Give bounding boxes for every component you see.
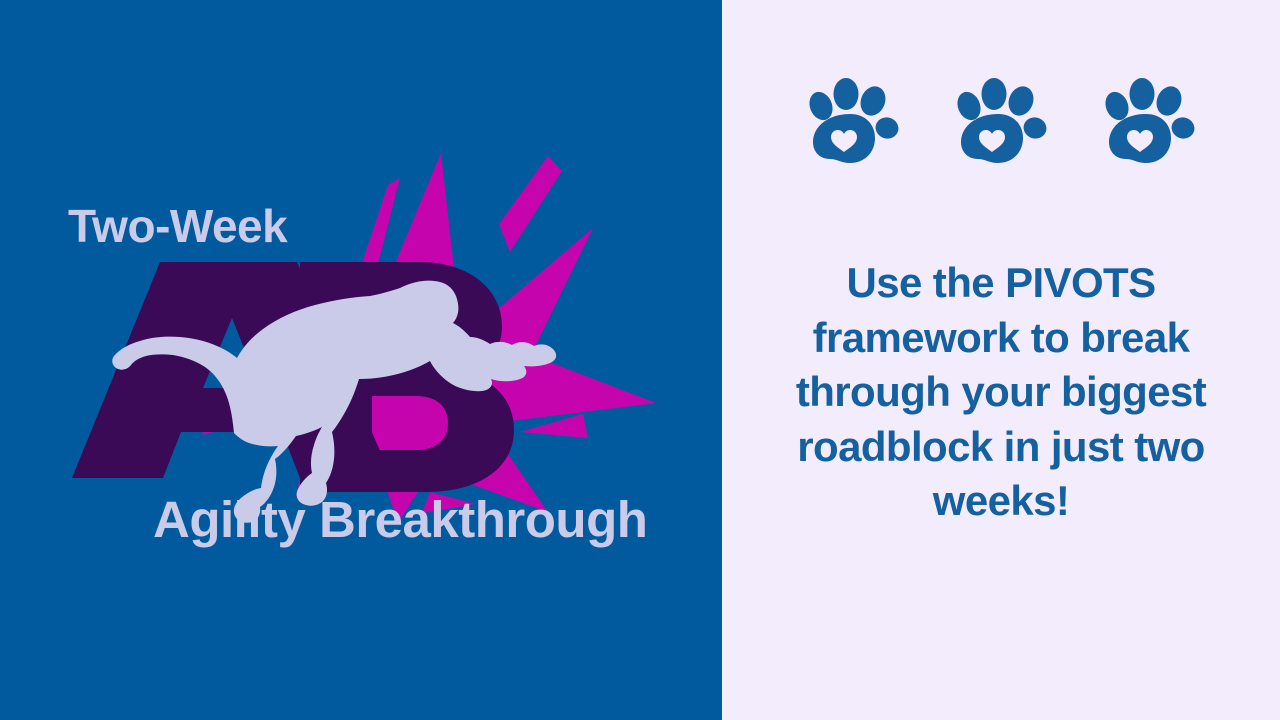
slide-canvas: Two-Week Agility Breakthrough	[0, 0, 1280, 720]
left-brand-panel: Two-Week Agility Breakthrough	[0, 0, 722, 720]
paw-heart-icon	[953, 78, 1049, 170]
logo-lockup: Two-Week Agility Breakthrough	[0, 0, 722, 720]
leaping-dog-icon	[0, 0, 722, 720]
right-content-panel: Use the PIVOTS framework to break throug…	[722, 0, 1280, 720]
paw-heart-icon	[805, 78, 901, 170]
paw-print-row	[722, 78, 1280, 170]
headline-text: Use the PIVOTS framework to break throug…	[740, 256, 1262, 529]
logo-top-word: Two-Week	[68, 203, 287, 249]
paw-heart-icon	[1101, 78, 1197, 170]
logo-bottom-word: Agility Breakthrough	[153, 494, 647, 545]
